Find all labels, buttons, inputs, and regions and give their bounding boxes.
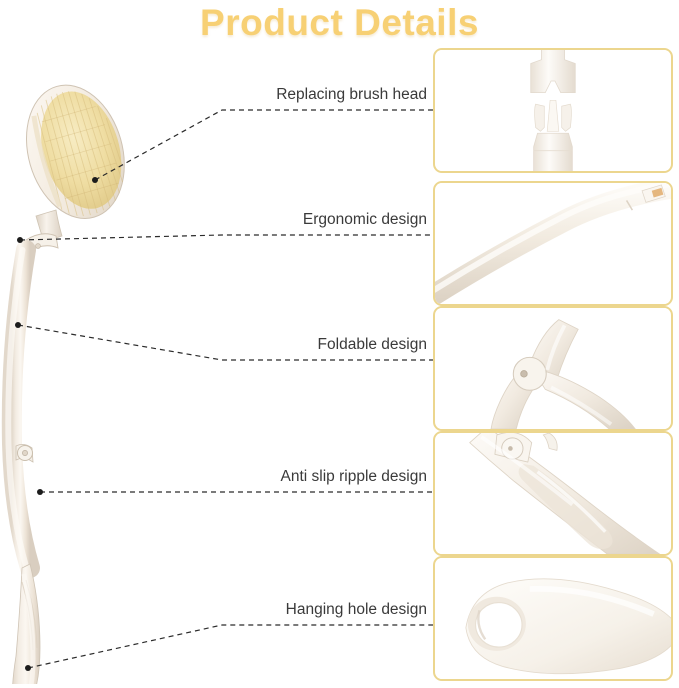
product-details-infographic: Product Details bbox=[0, 0, 679, 688]
product-image bbox=[0, 44, 150, 684]
detail-panel-grip-ripple bbox=[433, 431, 673, 556]
feature-label-anti-slip-ripple-design: Anti slip ripple design bbox=[216, 467, 427, 487]
detail-panel-brush-head-connector bbox=[433, 48, 673, 173]
feature-label-hanging-hole-design: Hanging hole design bbox=[226, 600, 427, 620]
feature-label-foldable-design: Foldable design bbox=[231, 335, 427, 355]
detail-panel-folding-hinge bbox=[433, 306, 673, 431]
detail-panel-hanging-hole bbox=[433, 556, 673, 681]
feature-label-ergonomic-design: Ergonomic design bbox=[231, 210, 427, 230]
feature-label-replacing-brush-head: Replacing brush head bbox=[231, 85, 427, 105]
page-title: Product Details bbox=[0, 2, 679, 44]
detail-panel-curved-handle bbox=[433, 181, 673, 306]
